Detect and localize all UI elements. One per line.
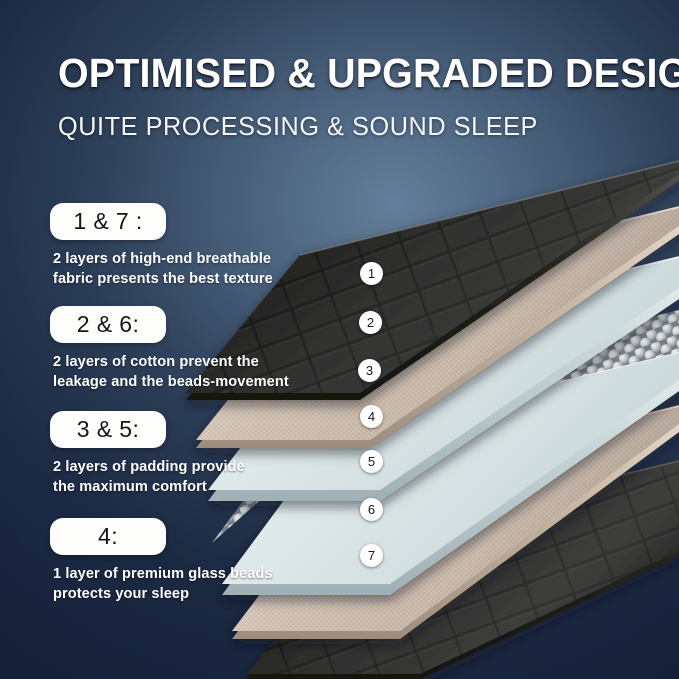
layer-badge-5-number: 5 bbox=[368, 455, 375, 468]
callout-2-and-6-description-line1: 2 layers of cotton prevent the bbox=[53, 352, 341, 372]
callout-1-and-7-description-line2: fabric presents the best texture bbox=[53, 269, 341, 289]
callout-4-description-line2: protects your sleep bbox=[53, 584, 341, 604]
callout-1-and-7-label: 1 & 7 : bbox=[67, 208, 149, 234]
layer-badge-6-number: 6 bbox=[368, 503, 375, 516]
layer-badge-4-number: 4 bbox=[368, 410, 375, 423]
header-block: OPTIMISED & UPGRADED DESIGN QUITE PROCES… bbox=[58, 52, 658, 141]
callout-3-and-5-description: 2 layers of padding provide the maximum … bbox=[53, 457, 341, 497]
callout-3-and-5-pill: 3 & 5: bbox=[50, 411, 166, 448]
layer-badge-7-number: 7 bbox=[368, 549, 375, 562]
callout-3-and-5-label: 3 & 5: bbox=[67, 416, 149, 442]
callout-3-and-5: 3 & 5: 2 layers of padding provide the m… bbox=[50, 411, 350, 497]
layer-badge-1-number: 1 bbox=[368, 267, 375, 280]
callout-2-and-6-description-line2: leakage and the beads-movement bbox=[53, 372, 341, 392]
callout-2-and-6-description: 2 layers of cotton prevent the leakage a… bbox=[53, 352, 341, 392]
callout-1-and-7: 1 & 7 : 2 layers of high-end breathable … bbox=[50, 203, 350, 289]
page-subtitle: QUITE PROCESSING & SOUND SLEEP bbox=[58, 112, 640, 141]
callout-2-and-6: 2 & 6: 2 layers of cotton prevent the le… bbox=[50, 306, 350, 392]
callout-3-and-5-description-line1: 2 layers of padding provide bbox=[53, 457, 341, 477]
callout-2-and-6-label: 2 & 6: bbox=[67, 311, 149, 337]
callout-3-and-5-description-line2: the maximum comfort bbox=[53, 477, 341, 497]
callout-2-and-6-pill: 2 & 6: bbox=[50, 306, 166, 343]
callout-4-description: 1 layer of premium glass beads protects … bbox=[53, 564, 341, 604]
callout-4-pill: 4: bbox=[50, 518, 166, 555]
callout-4-label: 4: bbox=[67, 523, 149, 549]
callout-4: 4: 1 layer of premium glass beads protec… bbox=[50, 518, 350, 604]
layer-badge-2-number: 2 bbox=[367, 316, 374, 329]
layer-badge-7: 7 bbox=[360, 544, 383, 567]
layer-badge-4: 4 bbox=[360, 405, 383, 428]
layer-badge-3-number: 3 bbox=[366, 364, 373, 377]
callout-1-and-7-pill: 1 & 7 : bbox=[50, 203, 166, 240]
layer-badge-2: 2 bbox=[359, 311, 382, 334]
callout-1-and-7-description: 2 layers of high-end breathable fabric p… bbox=[53, 249, 341, 289]
infographic-canvas: 1 2 3 4 5 6 7 OPTIMISED & UPGRADED DESIG… bbox=[0, 0, 679, 679]
callout-4-description-line1: 1 layer of premium glass beads bbox=[53, 564, 341, 584]
callout-1-and-7-description-line1: 2 layers of high-end breathable bbox=[53, 249, 341, 269]
layer-badge-3: 3 bbox=[358, 359, 381, 382]
layer-badge-5: 5 bbox=[360, 450, 383, 473]
page-title: OPTIMISED & UPGRADED DESIGN bbox=[58, 52, 634, 95]
layer-badge-6: 6 bbox=[360, 498, 383, 521]
layer-badge-1: 1 bbox=[360, 262, 383, 285]
